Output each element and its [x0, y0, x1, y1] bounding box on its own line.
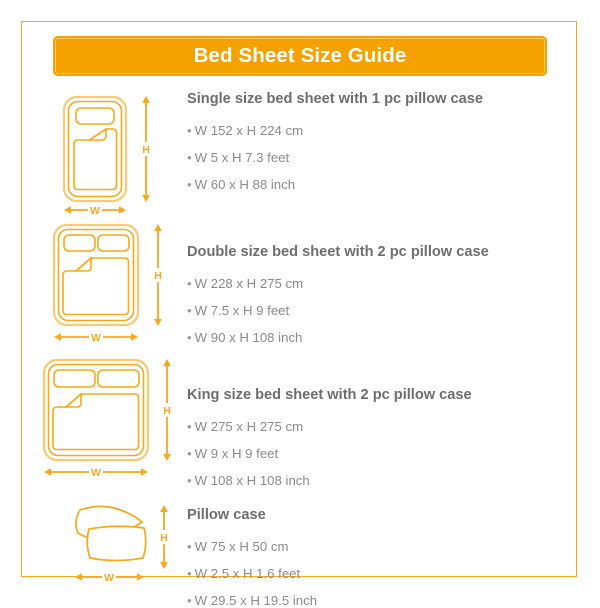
bullet-icon: •: [187, 177, 192, 192]
pillow-shape-right: [98, 370, 139, 387]
spec-text: W 7.5 x H 9 feet: [195, 303, 290, 318]
bullet-icon: •: [187, 446, 192, 461]
bed-frame-outer: [44, 360, 148, 460]
single-bed-diagram: H W: [22, 92, 197, 217]
width-label: W: [91, 332, 101, 344]
bed-frame-outer: [54, 225, 138, 325]
spec-item: •W 7.5 x H 9 feet: [187, 304, 567, 317]
pillow-case-icon: H W: [22, 485, 197, 590]
height-dimension-arrow: H: [161, 359, 173, 461]
width-label: W: [104, 572, 114, 584]
single-bed-icon: H W: [22, 92, 197, 217]
spec-item: •W 90 x H 108 inch: [187, 331, 567, 344]
height-label: H: [142, 144, 150, 156]
width-label: W: [91, 467, 101, 479]
section-title: Double size bed sheet with 2 pc pillow c…: [187, 245, 567, 260]
width-dimension-arrow: W: [54, 330, 138, 344]
section-title: King size bed sheet with 2 pc pillow cas…: [187, 388, 567, 403]
double-bed-icon: H W: [22, 220, 197, 350]
spec-item: •W 2.5 x H 1.6 feet: [187, 567, 567, 580]
height-dimension-arrow: H: [140, 96, 152, 202]
section-pillow: H W Pillow case •W 75 x H 50 cm •W 2.5 x…: [22, 485, 578, 590]
bullet-icon: •: [187, 539, 192, 554]
spec-list: •W 152 x H 224 cm •W 5 x H 7.3 feet •W 6…: [187, 124, 567, 192]
height-label: H: [160, 532, 168, 544]
bed-frame-inner: [49, 365, 144, 456]
width-dimension-arrow: W: [44, 465, 148, 479]
bullet-icon: •: [187, 276, 192, 291]
pillow-shape-front: [87, 526, 146, 560]
spec-item: •W 152 x H 224 cm: [187, 124, 567, 137]
page-title: Bed Sheet Size Guide: [194, 46, 407, 67]
bullet-icon: •: [187, 123, 192, 138]
pillow-shape-left: [64, 235, 95, 251]
page-title-bar: Bed Sheet Size Guide: [53, 36, 547, 76]
spec-list: •W 275 x H 275 cm •W 9 x H 9 feet •W 108…: [187, 420, 567, 488]
pillow-case-info: Pillow case •W 75 x H 50 cm •W 2.5 x H 1…: [187, 508, 567, 607]
double-bed-diagram: H W: [22, 220, 197, 350]
bullet-icon: •: [187, 593, 192, 608]
spec-text: W 2.5 x H 1.6 feet: [195, 566, 301, 581]
spec-text: W 5 x H 7.3 feet: [195, 150, 290, 165]
bed-frame-inner: [59, 230, 134, 321]
spec-list: •W 75 x H 50 cm •W 2.5 x H 1.6 feet •W 2…: [187, 540, 567, 608]
king-bed-icon: H W: [22, 355, 197, 485]
spec-item: •W 228 x H 275 cm: [187, 277, 567, 290]
sheet-fold-corner: [66, 394, 81, 407]
section-title: Pillow case: [187, 508, 567, 523]
bullet-icon: •: [187, 330, 192, 345]
width-dimension-arrow: W: [64, 203, 126, 217]
section-title: Single size bed sheet with 1 pc pillow c…: [187, 92, 567, 107]
bed-sheet-shape: [74, 129, 117, 190]
width-dimension-arrow: W: [75, 570, 144, 584]
spec-text: W 90 x H 108 inch: [195, 330, 303, 345]
spec-text: W 275 x H 275 cm: [195, 419, 303, 434]
king-bed-diagram: H W: [22, 355, 197, 485]
height-dimension-arrow: H: [158, 505, 170, 569]
pillow-case-diagram: H W: [22, 485, 197, 590]
spec-item: •W 29.5 x H 19.5 inch: [187, 594, 567, 607]
section-double: H W Double size bed sheet with 2 pc pill…: [22, 220, 578, 350]
guide-frame: Bed Sheet Size Guide H: [21, 21, 577, 577]
pillow-shape-left: [54, 370, 95, 387]
spec-item: •W 275 x H 275 cm: [187, 420, 567, 433]
bullet-icon: •: [187, 303, 192, 318]
bed-sheet-shape: [63, 258, 129, 315]
bullet-icon: •: [187, 566, 192, 581]
section-single: H W Single size bed sheet with 1 pc pill…: [22, 92, 578, 217]
spec-item: •W 75 x H 50 cm: [187, 540, 567, 553]
spec-text: W 152 x H 224 cm: [195, 123, 303, 138]
king-bed-info: King size bed sheet with 2 pc pillow cas…: [187, 388, 567, 487]
height-label: H: [163, 405, 171, 417]
spec-list: •W 228 x H 275 cm •W 7.5 x H 9 feet •W 9…: [187, 277, 567, 345]
spec-text: W 60 x H 88 inch: [195, 177, 295, 192]
height-dimension-arrow: H: [152, 224, 164, 326]
bed-sheet-shape: [53, 394, 139, 450]
sheet-fold-corner: [90, 129, 107, 140]
spec-text: W 29.5 x H 19.5 inch: [195, 593, 317, 608]
spec-item: •W 5 x H 7.3 feet: [187, 151, 567, 164]
sheet-fold-corner: [76, 258, 91, 271]
pillow-shape-right: [98, 235, 129, 251]
spec-text: W 9 x H 9 feet: [195, 446, 279, 461]
spec-text: W 228 x H 275 cm: [195, 276, 303, 291]
section-king: H W King size bed sheet with 2 pc pillow…: [22, 355, 578, 485]
bullet-icon: •: [187, 150, 192, 165]
width-label: W: [90, 205, 100, 217]
double-bed-info: Double size bed sheet with 2 pc pillow c…: [187, 245, 567, 344]
single-bed-info: Single size bed sheet with 1 pc pillow c…: [187, 92, 567, 191]
spec-item: •W 60 x H 88 inch: [187, 178, 567, 191]
height-label: H: [154, 270, 162, 282]
spec-text: W 75 x H 50 cm: [195, 539, 289, 554]
bullet-icon: •: [187, 419, 192, 434]
spec-item: •W 9 x H 9 feet: [187, 447, 567, 460]
pillow-shape: [76, 108, 114, 124]
